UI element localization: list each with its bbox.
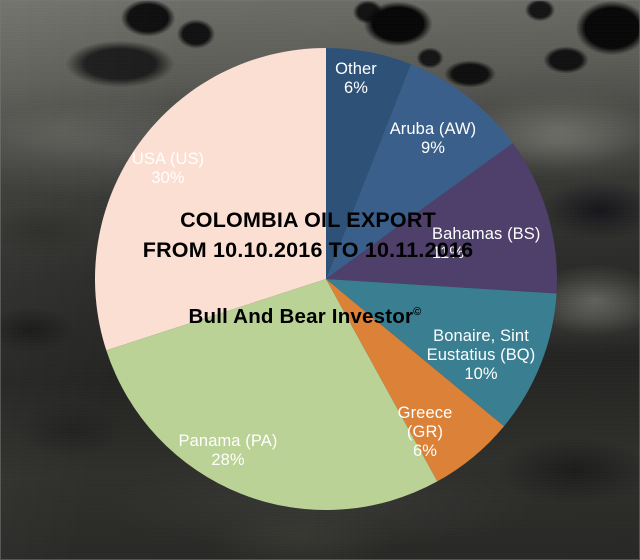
canvas-border bbox=[0, 0, 640, 560]
chart-canvas: Other 6% Aruba (AW) 9% Bahamas (BS) 11% … bbox=[0, 0, 640, 560]
